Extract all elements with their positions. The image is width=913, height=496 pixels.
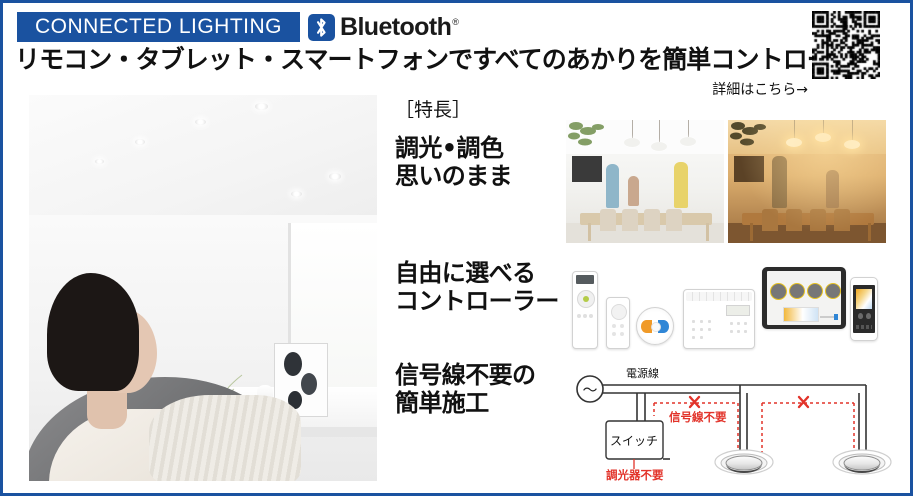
hero-photo [29, 95, 377, 481]
table-leg [588, 223, 591, 241]
panel-key [700, 336, 703, 339]
remote-dial [577, 290, 595, 308]
feature-heading-line2: コントローラー [395, 287, 565, 315]
pendant-lamp [844, 140, 860, 149]
header: CONNECTED LIGHTING Bluetooth® リモコン・タブレット… [3, 3, 910, 85]
person [674, 162, 688, 208]
bluetooth-lockup: Bluetooth® [308, 12, 458, 42]
remote-button [612, 332, 616, 336]
color-temperature-picker [856, 289, 872, 309]
hero-person-lap [149, 395, 301, 481]
person [606, 164, 619, 208]
scene-thumbnail [770, 283, 787, 300]
person [826, 170, 839, 208]
panel-key [708, 328, 711, 331]
dining-chair [622, 209, 638, 231]
bluetooth-wordmark: Bluetooth® [340, 15, 458, 40]
table-leg [706, 223, 709, 241]
remote-button [620, 324, 624, 328]
lighting-comparison-photos [566, 120, 886, 243]
feature-heading-line1: 自由に選べる [395, 259, 565, 287]
ceiling-downlight [95, 159, 104, 164]
pendant-cord [794, 120, 795, 138]
pendant-cord [688, 120, 689, 137]
remote-button [589, 314, 593, 318]
qr-caption: 詳細はこちら→ [712, 79, 808, 99]
phone-screen [853, 285, 875, 333]
lamp-icon [866, 313, 871, 319]
dining-chair [786, 209, 802, 231]
hero-person-hair [47, 273, 139, 391]
downlight-fixture [833, 450, 891, 474]
scene-thumbnail [807, 283, 823, 299]
ceiling-downlight [135, 139, 145, 145]
ceiling-downlight [255, 103, 268, 110]
panel-key [730, 322, 733, 325]
controller-lineup [566, 259, 896, 353]
pendant-cord [823, 120, 824, 133]
registered-mark: ® [452, 17, 458, 27]
pendant-cord [632, 120, 633, 138]
panel-key [744, 330, 747, 333]
pendant-lamp [786, 138, 802, 147]
dining-chair [600, 209, 616, 231]
remote-dial [611, 304, 627, 320]
ceiling-downlight [329, 173, 341, 180]
feature-heading-line2: 思いのまま [395, 162, 565, 190]
phone-key-row [856, 325, 872, 329]
remote-button [612, 324, 616, 328]
color-temperature-picker [783, 307, 819, 322]
panel-switch-row [686, 292, 752, 301]
dining-room-cool-light [566, 120, 724, 243]
tablet-app[interactable] [762, 267, 846, 329]
table-leg [868, 223, 871, 241]
wall-control-panel[interactable] [683, 289, 755, 349]
dining-chair [666, 209, 682, 231]
connected-lighting-poster: CONNECTED LIGHTING Bluetooth® リモコン・タブレット… [0, 0, 913, 496]
pendant-lamp [624, 138, 640, 147]
ac-source-symbol: 〜 [582, 381, 597, 399]
panel-key [744, 322, 747, 325]
subheadline: リモコン・タブレット・スマートフォンですべてのあかりを簡単コントロール [15, 47, 855, 72]
pendant-lamp [680, 137, 696, 146]
dining-chair [644, 209, 660, 231]
pendant-cord [852, 120, 853, 140]
power-line-label: 電源線 [626, 366, 659, 380]
feature-heading-line1: 信号線不要の [395, 361, 565, 389]
foliage [568, 122, 614, 156]
feature-block-1: ［特長］ 調光•調色 思いのまま [395, 95, 565, 191]
panel-key [737, 330, 740, 333]
feature-tag: ［特長］ [395, 95, 565, 122]
dining-room-warm-light [728, 120, 886, 243]
panel-key [700, 328, 703, 331]
panel-key [700, 320, 703, 323]
scene-thumbnail [789, 283, 805, 299]
qr-code-canvas[interactable] [812, 11, 880, 79]
panel-key [730, 330, 733, 333]
rotary-dial-controller[interactable] [636, 307, 674, 345]
banner-label: CONNECTED LIGHTING [35, 15, 282, 39]
dining-chair [810, 209, 826, 231]
feature-heading-line2: 簡単施工 [395, 389, 565, 417]
person [772, 156, 787, 208]
remote-button [583, 314, 587, 318]
downlight-fixture [715, 450, 773, 474]
dial-center [651, 322, 661, 332]
pendant-lamp [815, 133, 831, 142]
qr-code[interactable] [812, 11, 880, 79]
connected-lighting-banner: CONNECTED LIGHTING [17, 12, 300, 42]
wiring-diagram: 〜 電源線 スイッチ [566, 359, 896, 487]
dining-chair [762, 209, 778, 231]
remote-lcd [576, 275, 594, 284]
feature-block-3: 信号線不要の 簡単施工 [395, 361, 565, 418]
handheld-remote[interactable] [572, 271, 598, 349]
table-leg [750, 223, 753, 241]
person [628, 176, 639, 206]
lamp-icon [858, 313, 863, 319]
wall-tv [572, 156, 602, 182]
feature-heading-line1: 調光•調色 [395, 134, 565, 162]
feature-block-2: 自由に選べる コントローラー [395, 259, 565, 316]
no-dimmer-label: 調光器不要 [606, 468, 664, 482]
tablet-screen [767, 271, 841, 325]
panel-display [726, 305, 750, 316]
pendant-cord [659, 120, 660, 142]
cross-mark [799, 397, 808, 407]
bluetooth-icon [308, 14, 335, 41]
panel-key [692, 320, 695, 323]
switch-label: スイッチ [610, 434, 658, 448]
panel-key [692, 328, 695, 331]
compact-remote[interactable] [606, 297, 630, 349]
bluetooth-word-text: Bluetooth [340, 13, 451, 41]
ceiling-downlight [291, 191, 302, 197]
smartphone-app[interactable] [850, 277, 878, 341]
scene-thumbnail [825, 283, 841, 299]
dining-chair [834, 209, 850, 231]
no-signal-line-label: 信号線不要 [669, 410, 727, 424]
foliage [730, 122, 776, 156]
remote-button [620, 332, 624, 336]
brightness-slider [820, 316, 838, 318]
panel-key [708, 320, 711, 323]
remote-button [577, 314, 581, 318]
wall-tv [734, 156, 764, 182]
pendant-lamp [651, 142, 667, 151]
cross-mark [690, 397, 699, 407]
panel-key [737, 322, 740, 325]
ceiling-downlight [195, 119, 206, 125]
panel-key [692, 336, 695, 339]
